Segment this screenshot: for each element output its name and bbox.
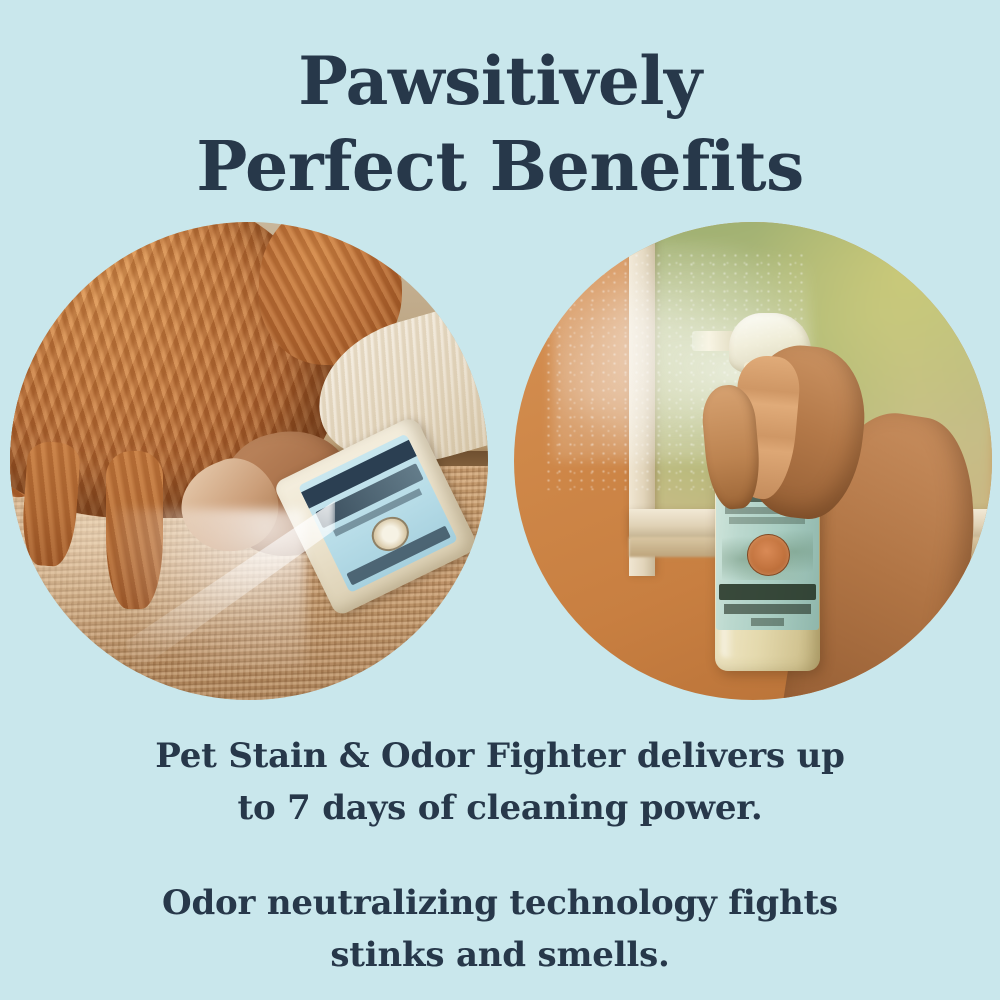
label-fineprint-2	[729, 517, 805, 523]
benefit-text-2-line-1: Odor neutralizing technology fights	[0, 877, 1000, 929]
label-product-name	[719, 584, 816, 600]
benefit-image-left	[10, 222, 488, 700]
page-title: Pawsitively Perfect Benefits	[0, 38, 1000, 210]
benefit-text-1-line-2: to 7 days of cleaning power.	[0, 782, 1000, 834]
label-claim-text	[724, 604, 811, 614]
label-scent-seal	[747, 534, 790, 576]
photo-hand-spraying-bottle	[514, 222, 992, 700]
product-benefits-graphic: Pawsitively Perfect Benefits	[0, 0, 1000, 1000]
headline-line-1: Pawsitively	[0, 38, 1000, 124]
benefit-image-right	[514, 222, 992, 700]
spray-nozzle	[692, 331, 734, 352]
benefit-text-1-line-1: Pet Stain & Odor Fighter delivers up	[0, 730, 1000, 782]
benefit-text-1: Pet Stain & Odor Fighter delivers up to …	[0, 730, 1000, 834]
mist-spray-haze	[115, 509, 306, 672]
benefit-text-2-line-2: stinks and smells.	[0, 929, 1000, 981]
benefit-text-2: Odor neutralizing technology fights stin…	[0, 877, 1000, 981]
label-size-text	[751, 618, 784, 626]
headline-line-2: Perfect Benefits	[0, 124, 1000, 210]
photo-dog-carpet-spray	[10, 222, 488, 700]
